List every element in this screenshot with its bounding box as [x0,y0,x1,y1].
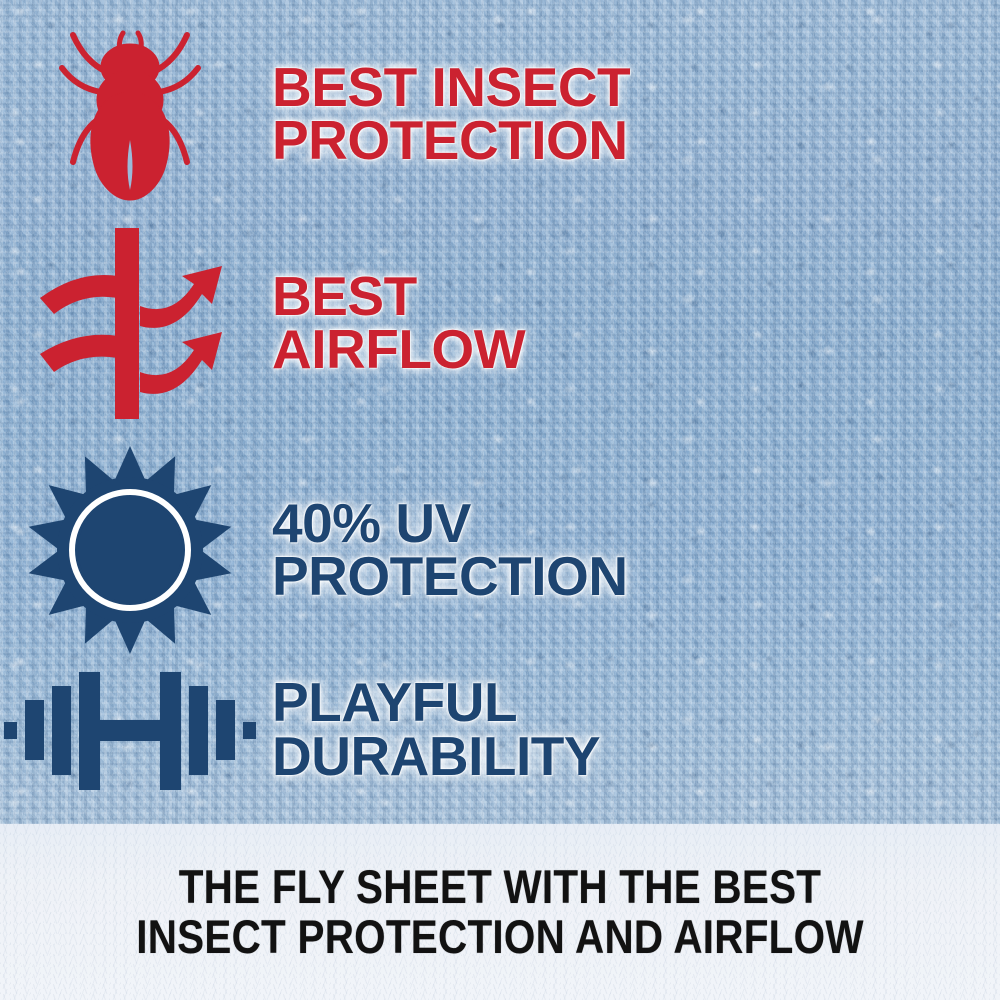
caption-headline: THE FLY SHEET WITH THE BEST INSECT PROTE… [136,862,864,962]
feature-row-durability: PLAYFUL DURABILITY [0,652,600,807]
icon-cell-dumbbell [0,664,260,796]
feature-label-uv-protection: 40% UV PROTECTION [272,497,628,604]
feature-row-uv-protection: 40% UV PROTECTION [0,440,628,660]
dumbbell-icon [0,664,260,796]
text-cell-uv-protection: 40% UV PROTECTION [260,497,628,604]
sun-icon [24,445,236,655]
feature-row-airflow: BEST AIRFLOW [0,218,525,428]
feature-row-insect-protection: BEST INSECT PROTECTION [0,18,630,210]
product-feature-infographic: BEST INSECT PROTECTION [0,0,1000,1000]
feature-label-airflow: BEST AIRFLOW [272,270,525,377]
fly-icon [55,22,205,207]
text-cell-insect-protection: BEST INSECT PROTECTION [260,61,630,168]
text-cell-airflow: BEST AIRFLOW [260,270,525,377]
icon-cell-sun [0,445,260,655]
icon-cell-fly [0,22,260,207]
icon-cell-airflow [0,226,260,421]
airflow-arrows-icon [30,226,230,421]
feature-label-insect-protection: BEST INSECT PROTECTION [272,61,630,168]
feature-list: BEST INSECT PROTECTION [0,0,1000,824]
text-cell-durability: PLAYFUL DURABILITY [260,676,600,783]
caption-band: THE FLY SHEET WITH THE BEST INSECT PROTE… [0,824,1000,1000]
feature-label-durability: PLAYFUL DURABILITY [272,676,600,783]
